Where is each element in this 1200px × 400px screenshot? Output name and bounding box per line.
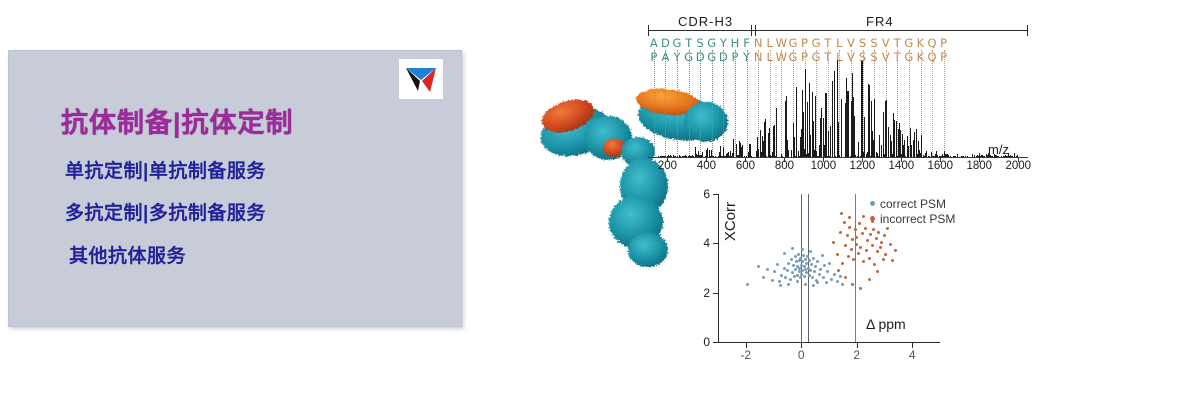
legend-item: correct PSM — [870, 196, 955, 211]
residue: G — [810, 36, 822, 50]
residue: T — [891, 36, 903, 50]
scatter-point — [875, 237, 878, 240]
scatter-point — [866, 239, 869, 242]
spectrum-peak — [947, 154, 948, 157]
scatter-point — [805, 262, 808, 265]
scatter-x-tick-label: 4 — [909, 348, 916, 362]
scatter-point — [862, 260, 865, 263]
spectrum-peak — [974, 155, 975, 157]
spectrum-peak — [907, 136, 908, 157]
spectrum-peak — [800, 137, 801, 157]
scatter-point — [783, 252, 786, 255]
scatter-point — [809, 250, 812, 253]
residue: A — [648, 36, 660, 50]
spectrum-peak — [828, 131, 829, 157]
residue: G — [787, 36, 799, 50]
scatter-y-axis — [718, 194, 719, 342]
spectrum-peak — [898, 156, 899, 157]
spectrum-peak — [884, 154, 885, 157]
scatter-point — [746, 283, 749, 286]
spectrum-peak — [921, 135, 922, 157]
spectrum-peak — [776, 150, 777, 157]
scatter-x-tick-label: -2 — [740, 348, 751, 362]
scatter-point — [869, 233, 872, 236]
spectrum-peak — [787, 152, 788, 157]
scatter-point — [851, 238, 854, 241]
spectrum-peak — [769, 128, 770, 157]
promo-item-other[interactable]: 其他抗体服务 — [69, 241, 186, 268]
scatter-point — [762, 276, 765, 279]
spectrum-peak — [744, 156, 745, 157]
scatter-point — [891, 259, 894, 262]
scatter-y-tick-label: 2 — [703, 286, 710, 300]
spectrum-peak — [690, 156, 691, 157]
spectrum-peak — [773, 126, 774, 157]
spectrum-peak — [901, 154, 902, 157]
spectrum-peak — [942, 156, 943, 157]
spectrum-peak — [914, 132, 915, 157]
scatter-point — [844, 244, 847, 247]
scatter-point — [855, 243, 858, 246]
spectrum-peak — [809, 156, 810, 157]
scatter-point — [864, 227, 867, 230]
spectrum-peak — [688, 156, 689, 157]
spectrum-peak — [832, 81, 833, 157]
spectrum-peak — [919, 150, 920, 157]
spectrum-peak — [893, 113, 894, 157]
spectrum-peak — [925, 153, 926, 157]
spectrum-peak — [658, 156, 659, 157]
spectrum-peak — [983, 156, 984, 157]
spectrum-x-tick-label: 2000 — [1005, 160, 1031, 172]
spectrum-x-axis — [648, 157, 1028, 158]
scatter-point — [771, 279, 774, 282]
spectrum-peak — [839, 155, 840, 157]
spectrum-x-tick-label: 200 — [658, 160, 677, 172]
scatter-x-axis-title: Δ ppm — [866, 316, 906, 332]
scatter-point — [832, 241, 835, 244]
scatter-point — [839, 275, 842, 278]
scatter-point — [859, 246, 862, 249]
spectrum-x-axis-title: m/z — [988, 142, 1009, 157]
spectrum-peak — [976, 156, 977, 157]
xcorr-ppm-scatter-plot: XCorr Δ ppm correct PSMincorrect PSM 024… — [688, 188, 948, 363]
spectrum-peak — [904, 140, 905, 157]
scatter-point — [848, 216, 851, 219]
spectrum-peak — [692, 155, 693, 157]
spectrum-peak — [710, 156, 711, 157]
spectrum-peak — [861, 61, 862, 157]
scatter-point — [780, 274, 783, 277]
scatter-point — [784, 276, 787, 279]
spectrum-peak — [864, 156, 865, 157]
spectrum-peak — [937, 156, 938, 157]
spectrum-peak — [665, 156, 666, 157]
page-title: 抗体制备|抗体定制 — [61, 101, 294, 140]
spectrum-peak — [878, 156, 879, 157]
spectrum-peak — [757, 153, 758, 157]
spectrum-peak — [671, 156, 672, 157]
scatter-point — [833, 273, 836, 276]
antibody-sequencing-figure: CDR-H3 FR4 ADGTSGYHFNLWGPGTLVSSVTGKQP PA… — [520, 0, 1080, 400]
scatter-point — [879, 246, 882, 249]
residue: F — [741, 36, 753, 50]
scatter-point — [789, 278, 792, 281]
spectrum-peak — [765, 119, 766, 157]
scatter-point — [844, 276, 847, 279]
spectrum-x-tick-label: 600 — [736, 160, 755, 172]
spectrum-peak — [663, 156, 664, 157]
scatter-point — [796, 280, 799, 283]
scatter-point — [797, 253, 800, 256]
residue: G — [671, 36, 683, 50]
spectrum-peak — [751, 156, 752, 157]
residue: Y — [718, 36, 730, 50]
spectrum-peak — [805, 69, 806, 157]
scatter-point — [841, 262, 844, 265]
mass-spectrum-plot — [648, 52, 1028, 158]
scatter-legend: correct PSMincorrect PSM — [870, 196, 955, 226]
spectrum-peak — [913, 155, 914, 157]
scatter-y-tick — [713, 243, 719, 244]
spectrum-peak — [740, 156, 741, 157]
spectrum-peak — [825, 93, 826, 157]
scatter-y-tick-label: 6 — [703, 187, 710, 201]
spectrum-peak — [674, 156, 675, 157]
scatter-y-axis-title: XCorr — [722, 202, 739, 241]
scatter-x-axis — [718, 342, 940, 343]
residue: H — [729, 36, 741, 50]
promo-item-pab[interactable]: 多抗定制|多抗制备服务 — [65, 198, 266, 225]
spectrum-peak — [876, 152, 877, 157]
spectrum-peak — [864, 117, 865, 157]
scatter-point — [814, 265, 817, 268]
scatter-point — [786, 269, 789, 272]
scatter-point — [840, 212, 843, 215]
spectrum-peak — [871, 123, 872, 157]
scatter-y-tick-label: 4 — [703, 236, 710, 250]
spectrum-peak — [847, 129, 848, 157]
scatter-point — [862, 215, 865, 218]
residue: Q — [926, 36, 938, 50]
spectrum-peak — [868, 85, 869, 157]
spectrum-peak — [695, 156, 696, 157]
scatter-point — [854, 228, 857, 231]
residue: T — [822, 36, 834, 50]
spectrum-peak — [957, 154, 958, 157]
scatter-x-tick-label: 2 — [853, 348, 860, 362]
spectrum-peak — [845, 151, 846, 157]
spectrum-peak — [796, 87, 797, 157]
scatter-point — [873, 263, 876, 266]
residue: W — [776, 36, 788, 50]
spectrum-peak — [841, 99, 842, 157]
spectrum-peak — [711, 150, 712, 157]
scatter-point — [808, 259, 811, 262]
scatter-point — [773, 270, 776, 273]
spectrum-peak — [715, 156, 716, 157]
spectrum-peak — [1014, 153, 1015, 157]
spectrum-x-tick-label: 1000 — [811, 160, 837, 172]
region-label-fr4: FR4 — [866, 14, 894, 29]
spectrum-peak — [813, 121, 814, 157]
scatter-point — [836, 280, 839, 283]
spectrum-peak — [785, 101, 786, 157]
scatter-point — [855, 236, 858, 239]
scatter-point — [858, 222, 861, 225]
scatter-point — [841, 283, 844, 286]
spectrum-peak — [1011, 156, 1012, 157]
scatter-point — [813, 270, 816, 273]
spectrum-peak — [830, 126, 831, 157]
scatter-x-tick-label: 0 — [798, 348, 805, 362]
scatter-point — [876, 250, 879, 253]
scatter-point — [894, 249, 897, 252]
scatter-point — [818, 273, 821, 276]
scatter-y-tick — [713, 293, 719, 294]
residue: L — [764, 36, 776, 50]
scatter-point — [886, 227, 889, 230]
residue: S — [868, 36, 880, 50]
legend-label: correct PSM — [880, 197, 946, 211]
spectrum-peak — [728, 156, 729, 157]
spectrum-x-tick-label: 1200 — [850, 160, 876, 172]
scatter-point — [804, 283, 807, 286]
spectrum-peak — [923, 155, 924, 157]
spectrum-peak — [724, 156, 725, 157]
spectrum-peak — [758, 149, 759, 157]
scatter-point — [804, 258, 807, 261]
scatter-point — [830, 278, 833, 281]
scatter-point — [812, 257, 815, 260]
spectrum-peak — [838, 127, 839, 157]
scatter-point — [757, 265, 760, 268]
spectrum-peak — [816, 153, 817, 157]
spectrum-peak — [939, 156, 940, 157]
scatter-point — [794, 255, 797, 258]
spectrum-peak — [731, 156, 732, 157]
spectrum-peak — [832, 156, 833, 157]
spectrum-x-tick-label: 1400 — [889, 160, 915, 172]
scatter-y-tick-label: 0 — [703, 335, 710, 349]
legend-label: incorrect PSM — [880, 212, 955, 226]
residue: V — [845, 36, 857, 50]
scatter-point — [792, 264, 795, 267]
residue: D — [660, 36, 672, 50]
spectrum-peak — [691, 156, 692, 157]
spectrum-peak — [733, 141, 734, 157]
spectrum-peak — [858, 142, 859, 157]
scatter-point — [857, 252, 860, 255]
spectrum-peak — [680, 156, 681, 157]
spectrum-peak — [950, 156, 951, 157]
spectrum-x-tick-labels: 200400600800100012001400160018002000 — [648, 160, 1048, 176]
spectrum-peak — [936, 151, 937, 157]
spectrum-peak — [1017, 155, 1018, 157]
spectrum-peak — [713, 156, 714, 157]
spectrum-peak — [768, 135, 769, 157]
spectrum-peak — [1010, 156, 1011, 157]
spectrum-peak — [793, 123, 794, 157]
scatter-point — [859, 287, 862, 290]
scatter-point — [790, 258, 793, 261]
spectrum-peak — [801, 129, 802, 157]
spectrum-peak — [781, 154, 782, 157]
spectrum-peak — [874, 99, 875, 157]
spectrum-peak — [963, 156, 964, 157]
spectrum-peak — [955, 156, 956, 157]
scatter-point — [861, 232, 864, 235]
scatter-point — [799, 257, 802, 260]
scatter-point — [871, 244, 874, 247]
residue: T — [683, 36, 695, 50]
scatter-point — [828, 262, 831, 265]
spectrum-peak — [675, 156, 676, 157]
scatter-point — [825, 281, 828, 284]
scatter-point — [846, 234, 849, 237]
promo-item-mab[interactable]: 单抗定制|单抗制备服务 — [65, 156, 266, 183]
spectrum-peak — [929, 156, 930, 157]
spectrum-peak — [902, 134, 903, 157]
scatter-y-tick — [713, 342, 719, 343]
spectrum-peak — [827, 156, 828, 157]
region-label-cdrh3: CDR-H3 — [678, 14, 733, 29]
scatter-point — [766, 268, 769, 271]
scatter-vertical-marker — [855, 194, 856, 342]
spectrum-peak — [905, 156, 906, 157]
scatter-point — [803, 275, 806, 278]
spectrum-peak — [854, 116, 855, 157]
scatter-point — [810, 263, 813, 266]
scatter-point — [889, 243, 892, 246]
scatter-point — [816, 281, 819, 284]
spectrum-peak — [682, 156, 683, 157]
scatter-point — [839, 231, 842, 234]
spectrum-peak — [980, 156, 981, 157]
spectrum-peak — [921, 156, 922, 157]
spectrum-peak — [848, 91, 849, 157]
spectrum-peak — [788, 150, 789, 157]
spectrum-peak — [810, 135, 811, 157]
spectrum-peak — [661, 156, 662, 157]
scatter-point — [787, 283, 790, 286]
residue: G — [706, 36, 718, 50]
region-ruler: CDR-H3 FR4 — [648, 18, 1028, 36]
promo-card: 抗体制备|抗体定制 单抗定制|单抗制备服务 多抗定制|多抗制备服务 其他抗体服务 — [8, 50, 462, 327]
scatter-point — [865, 249, 868, 252]
logo-arrow-icon — [404, 64, 438, 94]
scatter-point — [843, 221, 846, 224]
spectrum-x-tick-label: 1600 — [928, 160, 954, 172]
spectrum-peak — [888, 127, 889, 157]
scatter-point — [850, 248, 853, 251]
scatter-point — [776, 263, 779, 266]
spectrum-peak — [740, 143, 741, 157]
spectrum-peak — [890, 135, 891, 157]
spectrum-peak — [697, 156, 698, 157]
scatter-point — [851, 283, 854, 286]
spectrum-x-tick-label: 800 — [775, 160, 794, 172]
scatter-y-tick — [713, 194, 719, 195]
spectrum-peak — [928, 156, 929, 157]
page-root: 抗体制备|抗体定制 单抗定制|单抗制备服务 多抗定制|多抗制备服务 其他抗体服务 — [0, 0, 1200, 400]
scatter-point — [848, 226, 851, 229]
spectrum-peak — [881, 151, 882, 157]
scatter-point — [809, 269, 812, 272]
residue: P — [938, 36, 950, 50]
scatter-point — [791, 271, 794, 274]
scatter-point — [787, 262, 790, 265]
scatter-point — [884, 253, 887, 256]
spectrum-peak — [903, 156, 904, 157]
residue: N — [752, 36, 764, 50]
legend-item: incorrect PSM — [870, 211, 955, 226]
spectrum-peak — [763, 141, 764, 157]
spectrum-peak — [712, 156, 713, 157]
scatter-point — [816, 260, 819, 263]
spectrum-peak — [972, 154, 973, 157]
spectrum-peak — [967, 156, 968, 157]
spectrum-peak — [910, 128, 911, 157]
spectrum-peak — [760, 130, 761, 157]
scatter-point — [876, 270, 879, 273]
scatter-point — [812, 284, 815, 287]
scatter-point — [837, 269, 840, 272]
spectrum-peak — [961, 156, 962, 157]
spectrum-peak — [853, 97, 854, 157]
scatter-point — [877, 231, 880, 234]
scatter-point — [819, 268, 822, 271]
spectrum-peak — [685, 155, 686, 157]
spectrum-peak — [855, 155, 856, 157]
spectrum-peak — [727, 153, 728, 157]
scatter-point — [811, 276, 814, 279]
spectrum-peak — [736, 144, 737, 157]
scatter-point — [801, 248, 804, 251]
legend-color-swatch — [870, 201, 875, 206]
scatter-point — [826, 270, 829, 273]
spectrum-peak — [815, 96, 816, 157]
scatter-point — [883, 234, 886, 237]
spectrum-x-tick-label: 400 — [697, 160, 716, 172]
spectrum-peak — [746, 156, 747, 157]
scatter-point — [868, 257, 871, 260]
residue: S — [857, 36, 869, 50]
spectrum-peak — [835, 156, 836, 157]
scatter-point — [779, 284, 782, 287]
scatter-point — [823, 264, 826, 267]
spectrum-x-tick-label: 1800 — [966, 160, 992, 172]
scatter-point — [882, 258, 885, 261]
scatter-point — [880, 241, 883, 244]
residue: P — [799, 36, 811, 50]
scatter-point — [868, 278, 871, 281]
scatter-point — [871, 220, 874, 223]
spectrum-peak — [707, 153, 708, 157]
spectrum-peak — [668, 155, 669, 157]
scatter-point — [794, 268, 797, 271]
residue: V — [880, 36, 892, 50]
scatter-point — [872, 228, 875, 231]
scatter-point — [802, 254, 805, 257]
spectrum-peak — [771, 156, 772, 157]
scatter-point — [791, 247, 794, 250]
spectrum-peak — [699, 155, 700, 157]
scatter-point — [821, 254, 824, 257]
spectrum-peak — [962, 156, 963, 157]
spectrum-peak — [945, 156, 946, 157]
residue: G — [903, 36, 915, 50]
